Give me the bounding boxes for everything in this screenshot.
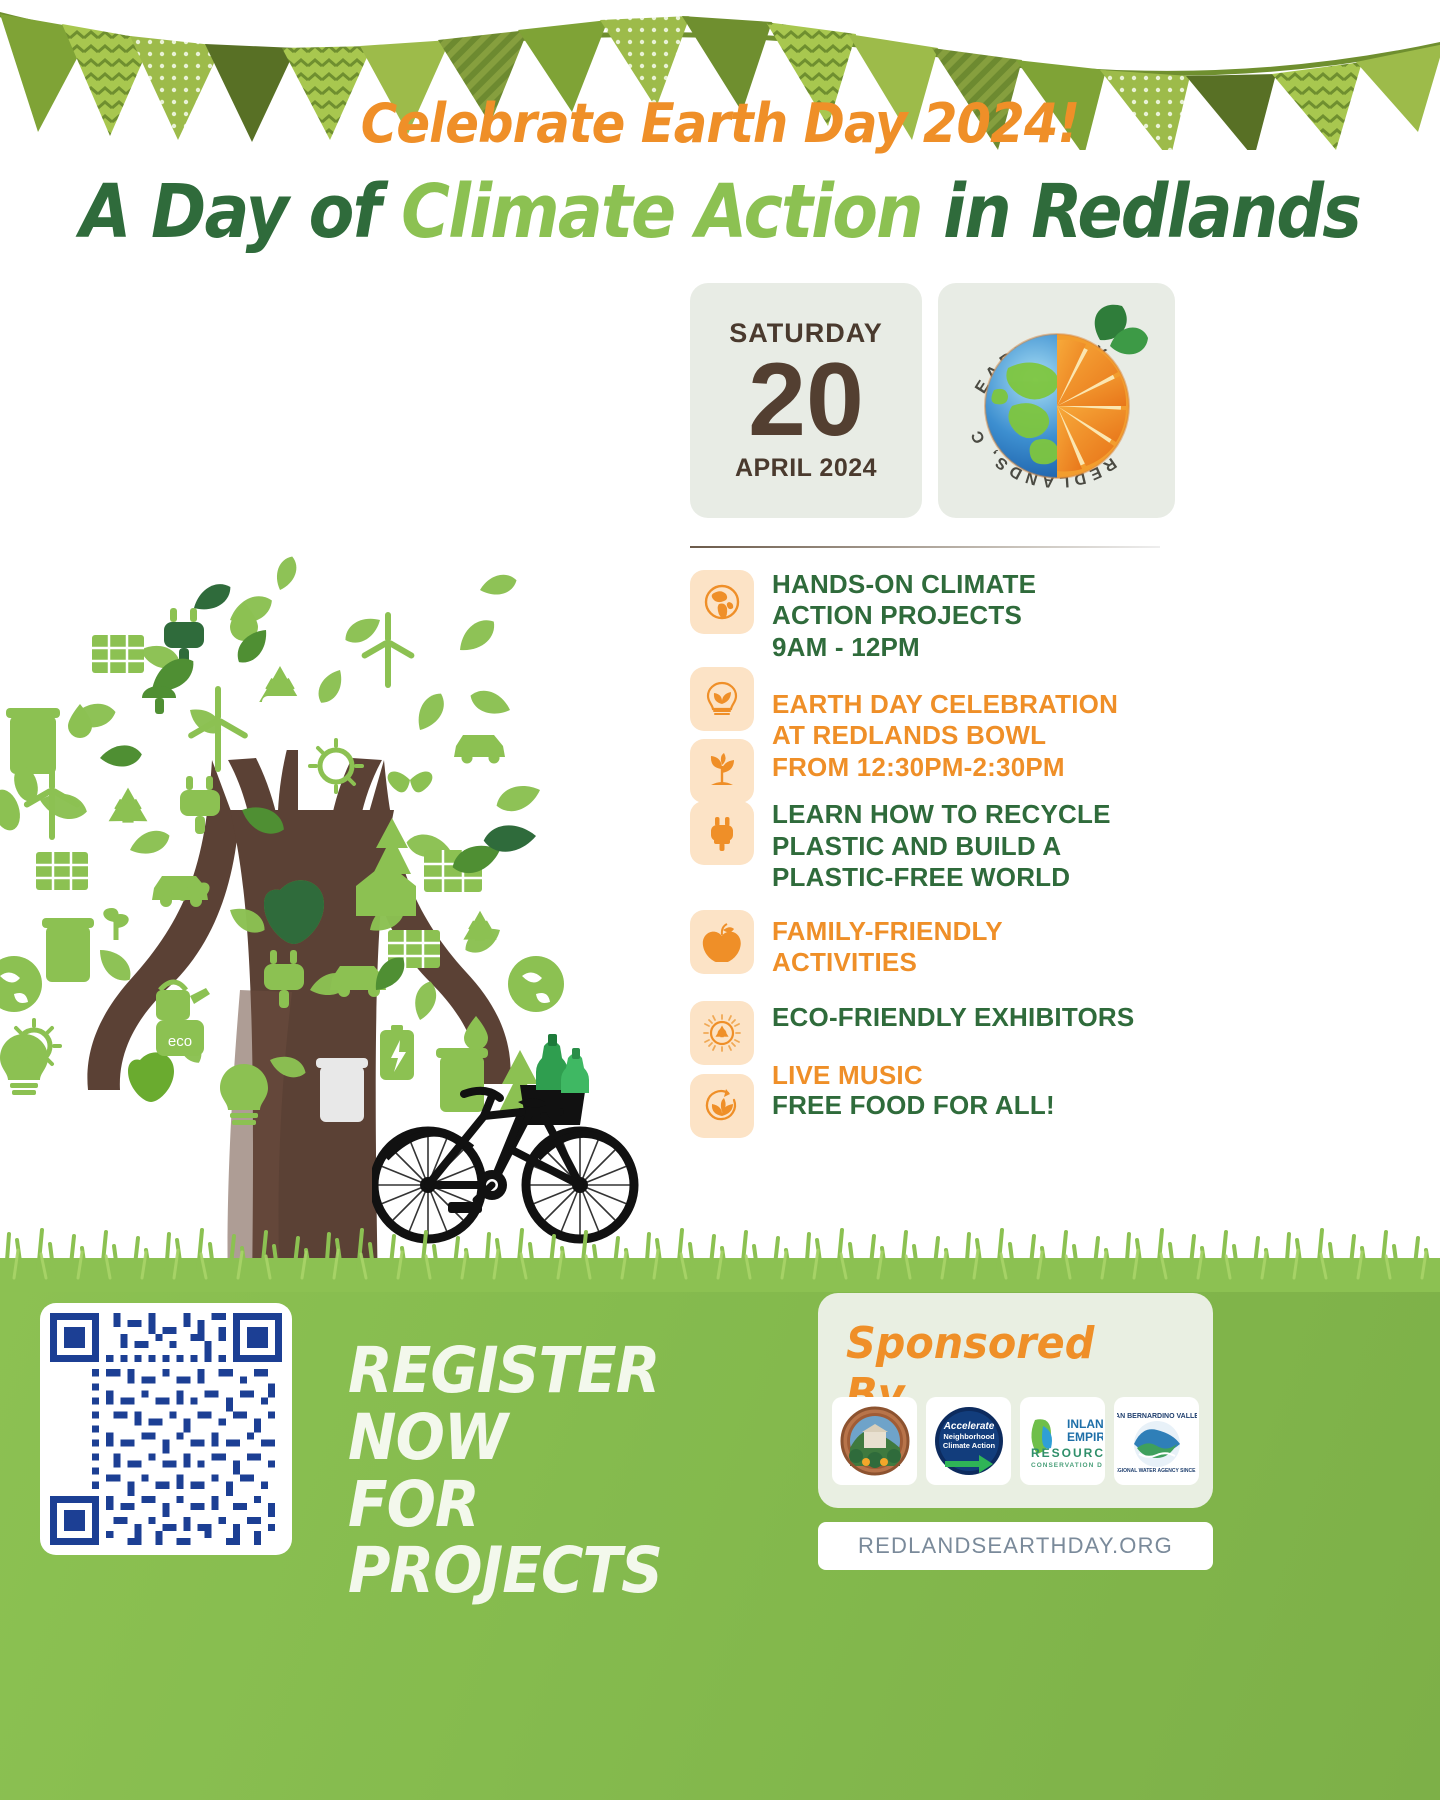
list-item-text: HANDS-ON CLIMATE ACTION PROJECTS 9AM - 1… — [772, 568, 1036, 663]
list-item-text: FREE FOOD FOR ALL! — [772, 1074, 1055, 1121]
date-day-number: 20 — [748, 351, 864, 450]
headline-main-pre: A Day of — [80, 169, 401, 255]
svg-text:eco: eco — [168, 1033, 192, 1050]
headline-main-accent: Climate Action — [401, 169, 922, 255]
feature-list: HANDS-ON CLIMATE ACTION PROJECTS 9AM - 1… — [690, 568, 1190, 1138]
svg-text:Neighborhood: Neighborhood — [943, 1432, 995, 1441]
list-item-text: FAMILY-FRIENDLY ACTIVITIES — [772, 910, 1003, 979]
leaf-cycle-icon — [690, 1074, 754, 1138]
inland-empire-resource-conservation-district-logo: INLAND EMPIRE RESOURCE CONSERVATION DIST… — [1020, 1397, 1105, 1485]
earth-day-flyer: Celebrate Earth Day 2024! A Day of Clima… — [0, 0, 1440, 1800]
svg-text:RESOURCE: RESOURCE — [1031, 1446, 1103, 1460]
accelerate-neighborhood-climate-action-logo: Accelerate Neighborhood Climate Action — [926, 1397, 1011, 1485]
svg-text:INLAND: INLAND — [1067, 1417, 1103, 1431]
bicycle-illustration — [372, 1030, 642, 1260]
recycle-sun-icon — [690, 1001, 754, 1065]
svg-text:CONSERVATION DISTRICT: CONSERVATION DISTRICT — [1031, 1462, 1103, 1469]
headline-celebrate: Celebrate Earth Day 2024! — [58, 92, 1383, 155]
date-month-year: APRIL 2024 — [735, 454, 877, 483]
website-url-text: REDLANDSEARTHDAY.ORG — [858, 1533, 1173, 1559]
earth-day-logo-card: EARTH DAY REDLANDS, CA — [938, 283, 1175, 518]
svg-text:Climate Action: Climate Action — [942, 1441, 995, 1450]
qr-code[interactable] — [40, 1303, 292, 1555]
svg-text:A REGIONAL WATER AGENCY SINCE: A REGIONAL WATER AGENCY SINCE 1954 — [1117, 1468, 1197, 1474]
globe-icon — [690, 570, 754, 634]
apple-icon — [690, 910, 754, 974]
svg-text:EMPIRE: EMPIRE — [1067, 1430, 1103, 1444]
sprout-icon — [690, 739, 754, 803]
website-url-bar[interactable]: REDLANDSEARTHDAY.ORG — [818, 1522, 1213, 1570]
event-details-column: SATURDAY 20 APRIL 2024 — [690, 283, 1190, 1138]
list-item: HANDS-ON CLIMATE ACTION PROJECTS 9AM - 1… — [690, 568, 1190, 663]
svg-text:SAN BERNARDINO VALLEY: SAN BERNARDINO VALLEY — [1117, 1413, 1197, 1420]
city-of-redlands-seal-logo — [832, 1397, 917, 1485]
headline-main-post: in Redlands — [922, 169, 1360, 255]
headline-main: A Day of Climate Action in Redlands — [72, 169, 1368, 255]
date-card: SATURDAY 20 APRIL 2024 — [690, 283, 922, 518]
list-item: FAMILY-FRIENDLY ACTIVITIES — [690, 910, 1190, 979]
svg-text:Accelerate: Accelerate — [942, 1421, 994, 1432]
sponsor-logo-row: Accelerate Neighborhood Climate Action I… — [832, 1397, 1199, 1485]
plug-icon — [690, 801, 754, 865]
grass-strip — [0, 1228, 1440, 1300]
earth-day-redlands-logo: EARTH DAY REDLANDS, CA — [950, 294, 1164, 508]
date-and-logo-row: SATURDAY 20 APRIL 2024 — [690, 283, 1190, 518]
register-line-1: REGISTER NOW — [348, 1338, 744, 1472]
lightbulb-leaf-icon — [690, 667, 754, 731]
san-bernardino-valley-water-agency-logo: SAN BERNARDINO VALLEY A REGIONAL WATER A… — [1114, 1397, 1199, 1485]
section-divider — [690, 546, 1160, 548]
register-line-2: FOR PROJECTS — [348, 1472, 744, 1606]
register-callout: REGISTER NOW FOR PROJECTS — [348, 1338, 744, 1605]
headline-block: Celebrate Earth Day 2024! A Day of Clima… — [0, 92, 1440, 255]
list-item-text: LEARN HOW TO RECYCLE PLASTIC AND BUILD A… — [772, 761, 1111, 893]
